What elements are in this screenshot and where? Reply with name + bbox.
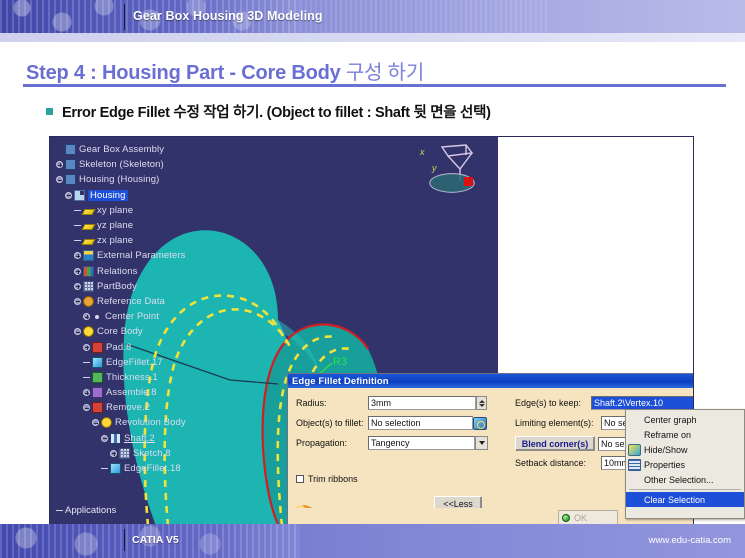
plane-icon [81,224,95,230]
trim-ribbons-label: Trim ribbons [308,474,358,484]
tree-item-gear-box-assembly[interactable]: Gear Box Assembly [56,142,291,157]
menu-item-label: Other Selection... [644,475,714,485]
tree-item-core-body[interactable]: Core Body [56,324,291,339]
fillet-icon [92,357,103,368]
svg-text:x: x [419,147,425,157]
tree-item-external-parameters[interactable]: External Parameters [56,248,291,263]
menu-item-hide-show[interactable]: Hide/Show [626,442,744,457]
header-texture-right [300,0,550,33]
partbody-icon [83,281,94,292]
tree-collapse-icon[interactable] [74,298,81,305]
tree-connector [74,210,81,211]
menu-item-center-graph[interactable]: Center graph [626,412,744,427]
tree-expand-icon[interactable] [83,344,90,351]
header-banner: Gear Box Housing 3D Modeling [0,0,745,33]
propagation-row: Propagation: Tangency [296,436,488,450]
tree-expand-icon[interactable] [74,283,81,290]
fillet-icon [110,463,121,474]
tree-item-label: EdgeFillet.18 [124,463,181,474]
document-icon [74,190,85,201]
header-underband [0,33,745,42]
radius-input[interactable]: 3mm [368,396,476,410]
footer-url: www.edu-catia.com [649,535,731,546]
tree-item-remove-2[interactable]: Remove.2 [56,400,291,415]
part-icon [65,174,76,185]
bullet-row: Error Edge Fillet 수정 작업 하기. (Object to f… [46,101,491,122]
radius-spinner[interactable] [476,396,487,410]
tree-item-housing-housing[interactable]: Housing (Housing) [56,172,291,187]
tree-item-label: Assemble.8 [106,387,157,398]
tree-item-label: Housing [88,190,128,201]
tree-connector [101,468,108,469]
tree-item-pad-8[interactable]: Pad.8 [56,339,291,354]
trim-ribbons-row[interactable]: Trim ribbons [296,474,358,484]
tree-item-label: Shaft.2 [124,433,155,444]
tree-item-label: PartBody [97,281,137,292]
point-icon [95,315,99,319]
radius-row: Radius: 3mm [296,396,487,410]
page-title: Step 4 : Housing Part - Core Body 구성 하기 [26,56,424,85]
tree-item-shaft-2[interactable]: Shaft.2 [56,431,291,446]
dialog-title: Edge Fillet Definition [292,376,389,387]
tree-item-applications[interactable]: Applications [56,505,116,516]
tree-item-label: Pad.8 [106,342,131,353]
body-icon [101,417,112,428]
tree-item-edgefillet-18[interactable]: EdgeFillet.18 [56,461,291,476]
compass-icon: x y [412,141,492,203]
thickness-icon [92,372,103,383]
menu-item-other-selection[interactable]: Other Selection... [626,472,744,487]
tree-collapse-icon[interactable] [65,192,72,199]
context-menu[interactable]: Center graphReframe onHide/ShowPropertie… [625,409,745,519]
tree-item-label: EdgeFillet.17 [106,357,163,368]
tree-expand-icon[interactable] [83,313,90,320]
svg-text:y: y [431,163,437,173]
tree-expand-icon[interactable] [56,161,63,168]
dialog-left-column: Radius: 3mm Object(s) to fillet: No sele… [288,388,509,525]
hide-show-icon [628,444,641,456]
tree-expand-icon[interactable] [83,389,90,396]
footer-brand: CATIA V5 [132,534,179,546]
menu-item-label: Reframe on [644,430,691,440]
limiting-elements-label: Limiting element(s): [515,418,601,428]
objects-to-fillet-row: Object(s) to fillet: No selection [296,416,487,430]
assembly-icon [65,144,76,155]
edges-to-keep-row: Edge(s) to keep: Shaft.2\Vertex.10 [515,396,694,410]
page-title-en: Step 4 : Housing Part - Core Body [26,62,346,84]
setback-distance-label: Setback distance: [515,458,601,468]
tree-item-partbody[interactable]: PartBody [56,279,291,294]
tree-connector [83,377,90,378]
tree-connector [83,362,90,363]
slide-root: Gear Box Housing 3D Modeling Step 4 : Ho… [0,0,745,558]
body-icon [83,326,94,337]
objects-to-fillet-input[interactable]: No selection [368,416,473,430]
tree-item-label: Housing (Housing) [79,174,159,185]
tree-connector [56,510,63,511]
ok-led-icon [562,514,570,522]
catia-screenshot: R3 x y Gear Box AssemblySkeleton (Skelet… [49,136,694,525]
sketch-icon [119,448,130,459]
menu-item-label: Clear Selection [644,495,705,505]
menu-item-label: Properties [644,460,685,470]
tree-item-label: xy plane [97,205,133,216]
blend-corners-button[interactable]: Blend corner(s) [515,436,595,451]
objects-to-fillet-label: Object(s) to fillet: [296,418,368,428]
tree-item-zx-plane[interactable]: zx plane [56,233,291,248]
tree-item-label: Skeleton (Skeleton) [79,159,164,170]
pad-icon [92,342,103,353]
tree-item-label: Thickness.1 [106,372,158,383]
menu-item-label: Center graph [644,415,697,425]
properties-icon [628,459,641,471]
tree-item-revolution-body[interactable]: Revolution Body [56,415,291,430]
tree-expand-icon[interactable] [74,268,81,275]
part-icon [65,159,76,170]
header-divider [124,4,125,30]
tree-collapse-icon[interactable] [83,404,90,411]
spec-tree[interactable]: Gear Box AssemblySkeleton (Skeleton)Hous… [56,142,291,476]
title-rule [23,84,726,87]
svg-text:R3: R3 [333,356,347,368]
tree-collapse-icon[interactable] [101,435,108,442]
footer-banner: CATIA V5 www.edu-catia.com [0,524,745,558]
tree-item-skeleton-skeleton[interactable]: Skeleton (Skeleton) [56,157,291,172]
tree-item-label: Revolution Body [115,417,186,428]
tree-item-label: Remove.2 [106,402,150,413]
tree-item-yz-plane[interactable]: yz plane [56,218,291,233]
tree-item-assemble-8[interactable]: Assemble.8 [56,385,291,400]
menu-separator [629,489,741,490]
radius-label: Radius: [296,398,368,408]
propagation-select[interactable]: Tangency [368,436,475,450]
ok-button-label: OK [574,513,587,523]
header-title: Gear Box Housing 3D Modeling [133,9,323,23]
tree-item-relations[interactable]: Relations [56,264,291,279]
tree-expand-icon[interactable] [74,252,81,259]
shaft-icon [110,433,121,444]
plane-icon [81,209,95,215]
tree-expand-icon[interactable] [110,450,117,457]
tree-item-label: External Parameters [97,250,186,261]
tree-item-label: zx plane [97,235,133,246]
reference-icon [83,296,94,307]
tree-item-label: Center Point [105,311,159,322]
dialog-titlebar[interactable]: Edge Fillet Definition ? ✕ [288,374,694,388]
tree-item-edgefillet-17[interactable]: EdgeFillet.17 [56,355,291,370]
page-title-ko: 구성 하기 [346,62,424,84]
menu-item-label: Hide/Show [644,445,688,455]
tree-item-label: Gear Box Assembly [79,144,164,155]
tree-item-thickness-1[interactable]: Thickness.1 [56,370,291,385]
tree-item-xy-plane[interactable]: xy plane [56,203,291,218]
bullet-square-icon [46,108,53,115]
tree-item-label: Sketch.8 [133,448,171,459]
tree-collapse-icon[interactable] [56,176,63,183]
tree-item-label: yz plane [97,220,133,231]
tree-item-reference-data[interactable]: Reference Data [56,294,291,309]
relations-icon [83,266,94,277]
menu-item-reframe-on[interactable]: Reframe on [626,427,744,442]
ok-button[interactable]: OK [558,510,618,525]
tree-item-housing[interactable]: Housing [56,188,291,203]
tree-item-sketch-8[interactable]: Sketch.8 [56,446,291,461]
plane-icon [81,239,95,245]
tree-collapse-icon[interactable] [74,328,81,335]
menu-item-properties[interactable]: Properties [626,457,744,472]
menu-item-clear-selection[interactable]: Clear Selection [626,492,744,507]
bullet-text: Error Edge Fillet 수정 작업 하기. (Object to f… [62,101,491,122]
select-object-icon[interactable] [473,417,487,430]
assemble-icon [92,387,103,398]
propagation-label: Propagation: [296,438,368,448]
parameters-icon [83,250,94,261]
remove-icon [92,402,103,413]
tree-item-label: Core Body [97,326,143,337]
tree-connector [74,240,81,241]
tree-item-label: Applications [65,505,116,516]
trim-ribbons-checkbox[interactable] [296,475,304,483]
edges-to-keep-label: Edge(s) to keep: [515,398,591,408]
tree-connector [74,225,81,226]
edges-to-keep-input[interactable]: Shaft.2\Vertex.10 [591,396,694,410]
tree-item-center-point[interactable]: Center Point [56,309,291,324]
tree-collapse-icon[interactable] [92,419,99,426]
tree-item-label: Relations [97,266,138,277]
tree-item-label: Reference Data [97,296,165,307]
footer-divider [124,529,125,551]
chevron-down-icon[interactable] [475,436,488,450]
